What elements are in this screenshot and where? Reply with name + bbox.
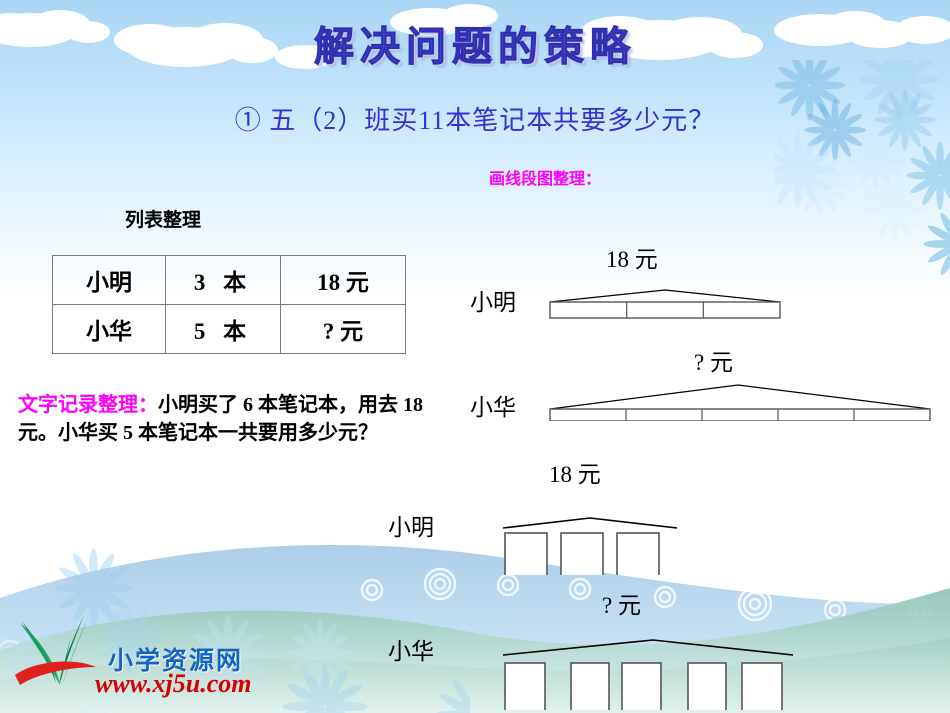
- segment2-name-label: 小华: [470, 388, 516, 422]
- data-table: 小明 3 本 18 元 小华 5 本 ? 元: [52, 255, 406, 354]
- block2-amount-label: ? 元: [602, 586, 641, 620]
- table-row: 小华 5 本 ? 元: [53, 305, 406, 354]
- cell-name: 小华: [53, 305, 166, 354]
- cell-money: ? 元: [281, 305, 406, 354]
- slide-canvas: 解决问题的策略 ① 五（2）班买11本笔记本共要多少元？ 列表整理 小明 3 本…: [0, 0, 950, 713]
- site-watermark: 小学资源网 www.xj5u.com: [10, 605, 280, 705]
- segment-diagram-xiaoming: [545, 280, 795, 320]
- text-record-block: 文字记录整理：小明买了 6 本笔记本，用去 18 元。小华买 5 本笔记本一共要…: [18, 392, 438, 447]
- segment-diagram-xiaohua: [545, 375, 945, 421]
- cell-money: 18 元: [281, 256, 406, 305]
- list-method-label: 列表整理: [125, 205, 201, 232]
- segment2-amount-label: ? 元: [694, 343, 733, 377]
- block1-name-label: 小明: [388, 508, 434, 542]
- block-diagram-xiaoming: [495, 500, 685, 575]
- block-diagram-xiaohua: [495, 625, 825, 710]
- block2-name-label: 小华: [388, 632, 434, 666]
- segment1-amount-label: 18 元: [606, 240, 658, 274]
- segment1-name-label: 小明: [470, 283, 516, 317]
- question-subtitle: ① 五（2）班买11本笔记本共要多少元？: [0, 100, 950, 137]
- block1-amount-label: 18 元: [549, 455, 601, 489]
- table-row: 小明 3 本 18 元: [53, 256, 406, 305]
- cell-name: 小明: [53, 256, 166, 305]
- cell-count: 3 本: [166, 256, 281, 305]
- page-title: 解决问题的策略: [0, 14, 950, 72]
- site-url-label: www.xj5u.com: [95, 669, 252, 699]
- cell-count: 5 本: [166, 305, 281, 354]
- text-record-tag: 文字记录整理：: [18, 394, 158, 416]
- line-segment-method-label: 画线段图整理：: [489, 165, 601, 189]
